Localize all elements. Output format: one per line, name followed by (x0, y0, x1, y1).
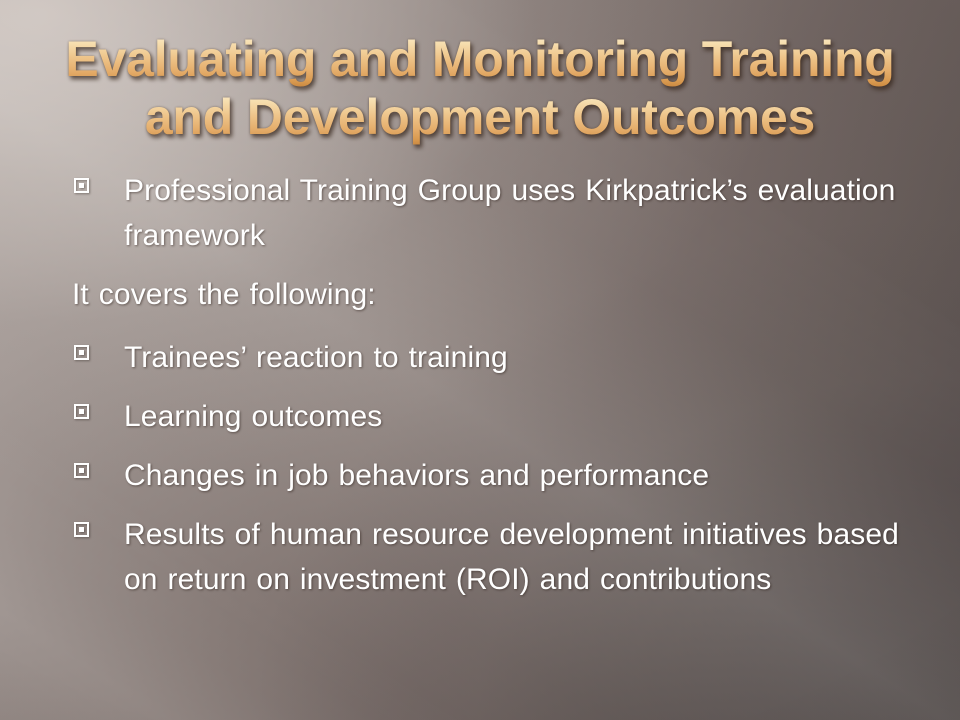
square-bullet-icon (74, 463, 89, 478)
bullet-cell (66, 335, 124, 360)
list-item-text: Trainees’ reaction to training (124, 335, 932, 380)
bullet-cell (66, 168, 124, 193)
list-item-text: Professional Training Group uses Kirkpat… (124, 168, 932, 258)
list-item: Professional Training Group uses Kirkpat… (66, 168, 932, 258)
square-bullet-icon (74, 178, 89, 193)
list-item-text: Results of human resource development in… (124, 512, 932, 602)
list-item: Results of human resource development in… (66, 512, 932, 602)
bullet-cell (66, 453, 124, 478)
list-item-text: Changes in job behaviors and performance (124, 453, 932, 498)
list-item: Changes in job behaviors and performance (66, 453, 932, 498)
square-bullet-icon (74, 522, 89, 537)
list-item-text: Learning outcomes (124, 394, 932, 439)
slide-canvas: Evaluating and Monitoring Training and D… (0, 0, 960, 720)
list-item-text: It covers the following: (72, 272, 932, 317)
title-line-2: and Development Outcomes (0, 88, 960, 146)
slide-body-list: Professional Training Group uses Kirkpat… (66, 168, 932, 616)
bullet-cell (66, 394, 124, 419)
square-bullet-icon (74, 404, 89, 419)
title-line-1: Evaluating and Monitoring Training (0, 30, 960, 88)
list-item: Learning outcomes (66, 394, 932, 439)
bullet-cell (66, 512, 124, 537)
list-item-plain: It covers the following: (66, 272, 932, 317)
square-bullet-icon (74, 345, 89, 360)
list-item: Trainees’ reaction to training (66, 335, 932, 380)
slide-title: Evaluating and Monitoring Training and D… (0, 30, 960, 146)
